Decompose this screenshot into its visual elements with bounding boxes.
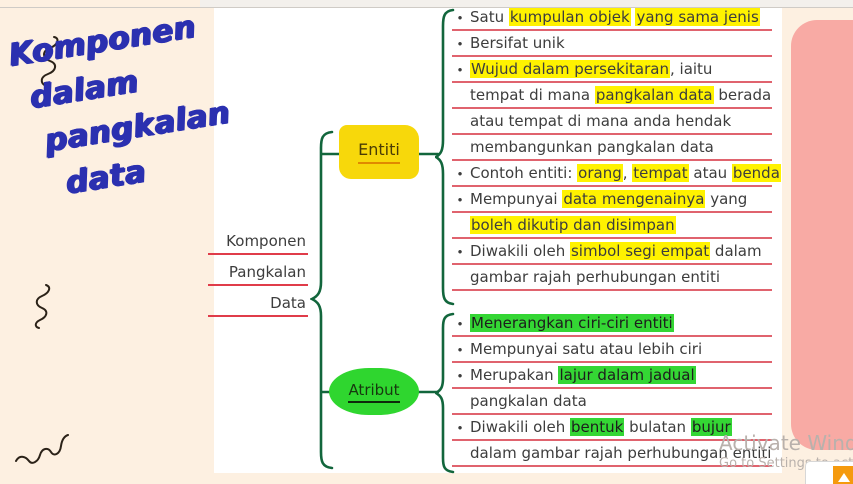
entiti-list-row: •Wujud dalam persekitaran, iaitu — [452, 58, 772, 84]
bullet-icon: • — [452, 167, 468, 181]
bullet-icon: • — [452, 245, 468, 259]
entiti-list-row: •Bersifat unik — [452, 32, 772, 58]
highlighted-text: Wujud dalam persekitaran — [470, 60, 670, 78]
stem-underline-3 — [208, 315, 308, 317]
highlighted-text: bujur — [691, 418, 732, 436]
atribut-bullet-list: •Menerangkan ciri-ciri entiti•Mempunyai … — [452, 312, 772, 468]
ruled-line — [452, 55, 772, 57]
ruled-line — [452, 465, 772, 467]
ruled-line — [452, 387, 772, 389]
ruled-line — [452, 29, 772, 31]
slide-title: Komponen dalam pangkalan data — [6, 0, 252, 246]
entiti-list-row-text: gambar rajah perhubungan entiti — [470, 266, 720, 288]
entiti-list-row: •Diwakili oleh simbol segi empat dalam — [452, 240, 772, 266]
bracket-root-to-nodes — [310, 130, 336, 470]
connector-atribut-right — [417, 389, 439, 395]
atribut-list-row: •Diwakili oleh bentuk bulatan bujur — [452, 416, 772, 442]
entiti-list-row: •Mempunyai data mengenainya yang — [452, 188, 772, 214]
entiti-list-row: •Contoh entiti: orang, tempat atau benda — [452, 162, 772, 188]
stem-label-data: Data — [268, 294, 308, 314]
atribut-list-row: •Merupakan lajur dalam jadual — [452, 364, 772, 390]
stem-underline-1 — [208, 253, 308, 255]
ruled-line — [452, 107, 772, 109]
ruled-line — [452, 289, 772, 291]
atribut-list-row: •Mempunyai satu atau lebih ciri — [452, 338, 772, 364]
plain-text: berada — [714, 86, 772, 104]
ruled-line — [452, 211, 772, 213]
plain-text: gambar rajah perhubungan entiti — [470, 268, 720, 286]
highlighted-text: orang — [577, 164, 623, 182]
entiti-list-row: gambar rajah perhubungan entiti — [452, 266, 772, 292]
entiti-list-row-text: Mempunyai data mengenainya yang — [470, 188, 747, 210]
highlighted-text: lajur dalam jadual — [558, 366, 695, 384]
atribut-list-row-text: Diwakili oleh bentuk bulatan bujur — [470, 416, 732, 438]
atribut-list-row-text: pangkalan data — [470, 390, 587, 412]
plain-text: , iaitu — [670, 60, 712, 78]
plain-text: pangkalan data — [470, 392, 587, 410]
highlighted-text: simbol segi empat — [570, 242, 710, 260]
plain-text: yang — [705, 190, 747, 208]
highlighted-text: pangkalan data — [595, 86, 714, 104]
ruled-line — [452, 185, 772, 187]
atribut-list-row: dalam gambar rajah perhubungan entiti — [452, 442, 772, 468]
atribut-list-row-text: Menerangkan ciri-ciri entiti — [470, 312, 674, 334]
ruled-line — [452, 263, 772, 265]
highlighted-text: tempat — [632, 164, 688, 182]
plain-text: Mempunyai — [470, 190, 562, 208]
stem-row-1: Komponen — [208, 232, 308, 255]
entiti-list-row: •Satu kumpulan objek yang sama jenis — [452, 6, 772, 32]
entiti-list-row-text: atau tempat di mana anda hendak — [470, 110, 731, 132]
window-chrome-left-gap — [0, 0, 200, 7]
entiti-list-row-text: tempat di mana pangkalan data berada — [470, 84, 771, 106]
plain-text: atau — [689, 164, 732, 182]
plain-text: Merupakan — [470, 366, 558, 384]
highlighted-text: benda — [732, 164, 781, 182]
atribut-list-row-text: Mempunyai satu atau lebih ciri — [470, 338, 702, 360]
plain-text: , — [623, 164, 633, 182]
ruled-line — [452, 81, 772, 83]
highlighted-text: boleh dikutip dan disimpan — [470, 216, 676, 234]
entiti-list-row: tempat di mana pangkalan data berada — [452, 84, 772, 110]
entiti-list-row-text: Contoh entiti: orang, tempat atau benda — [470, 162, 781, 184]
entiti-list-row-text: membangunkan pangkalan data — [470, 136, 714, 158]
ruled-line — [452, 335, 772, 337]
bullet-icon: • — [452, 193, 468, 207]
notification-popup[interactable] — [805, 461, 853, 484]
entiti-list-row: boleh dikutip dan disimpan — [452, 214, 772, 240]
plain-text: dalam gambar rajah perhubungan entiti — [470, 444, 771, 462]
slide-canvas: Komponen dalam pangkalan data Komponen P… — [0, 0, 853, 484]
plain-text: Bersifat unik — [470, 34, 565, 52]
bullet-icon: • — [452, 11, 468, 25]
entiti-list-row: membangunkan pangkalan data — [452, 136, 772, 162]
highlighted-text: data mengenainya — [562, 190, 705, 208]
bullet-icon: • — [452, 37, 468, 51]
atribut-list-row: pangkalan data — [452, 390, 772, 416]
stem-label-pangkalan: Pangkalan — [227, 263, 308, 283]
ruled-line — [452, 439, 772, 441]
atribut-list-row-text: Merupakan lajur dalam jadual — [470, 364, 696, 386]
plain-text: Diwakili oleh — [470, 242, 570, 260]
ruled-line — [452, 237, 772, 239]
highlighted-text: bentuk — [570, 418, 624, 436]
plain-text: Satu — [470, 8, 509, 26]
bullet-icon: • — [452, 343, 468, 357]
squiggle-decoration-middle — [26, 282, 56, 335]
bullet-icon: • — [452, 317, 468, 331]
squiggle-decoration-bottom — [14, 430, 70, 469]
plain-text: Contoh entiti: — [470, 164, 577, 182]
plain-text: dalam — [710, 242, 761, 260]
stem-underline-2 — [208, 284, 308, 286]
node-atribut-label: Atribut — [348, 381, 399, 403]
stem-row-3: Data — [208, 294, 308, 317]
highlighted-text: kumpulan objek — [509, 8, 631, 26]
entiti-list-row-text: Wujud dalam persekitaran, iaitu — [470, 58, 712, 80]
plain-text: tempat di mana — [470, 86, 595, 104]
plain-text: membangunkan pangkalan data — [470, 138, 714, 156]
plain-text: bulatan — [624, 418, 691, 436]
atribut-list-row-text: dalam gambar rajah perhubungan entiti — [470, 442, 771, 464]
bullet-icon: • — [452, 369, 468, 383]
ruled-line — [452, 133, 772, 135]
node-entiti[interactable]: Entiti — [339, 125, 419, 179]
bullet-icon: • — [452, 421, 468, 435]
highlighted-text: yang sama jenis — [635, 8, 759, 26]
node-atribut[interactable]: Atribut — [329, 368, 419, 415]
highlighted-text: Menerangkan ciri-ciri entiti — [470, 314, 674, 332]
plain-text: Mempunyai satu atau lebih ciri — [470, 340, 702, 358]
root-node-komponen-pangkalan-data: Komponen Pangkalan Data — [208, 232, 308, 325]
atribut-list-row: •Menerangkan ciri-ciri entiti — [452, 312, 772, 338]
ruled-line — [452, 159, 772, 161]
entiti-list-row: atau tempat di mana anda hendak — [452, 110, 772, 136]
decorative-salmon-panel — [791, 20, 853, 450]
bullet-icon: • — [452, 63, 468, 77]
ruled-line — [452, 413, 772, 415]
entiti-list-row-text: boleh dikutip dan disimpan — [470, 214, 676, 236]
stem-label-komponen: Komponen — [224, 232, 308, 252]
plain-text: atau tempat di mana anda hendak — [470, 112, 731, 130]
entiti-bullet-list: •Satu kumpulan objek yang sama jenis•Ber… — [452, 6, 772, 292]
upload-arrow-icon[interactable] — [833, 466, 853, 484]
ruled-line — [452, 361, 772, 363]
entiti-list-row-text: Diwakili oleh simbol segi empat dalam — [470, 240, 762, 262]
entiti-list-row-text: Satu kumpulan objek yang sama jenis — [470, 6, 760, 28]
stem-row-2: Pangkalan — [208, 263, 308, 286]
entiti-list-row-text: Bersifat unik — [470, 32, 565, 54]
node-entiti-label: Entiti — [358, 140, 400, 164]
connector-entiti-right — [417, 151, 439, 157]
plain-text: Diwakili oleh — [470, 418, 570, 436]
